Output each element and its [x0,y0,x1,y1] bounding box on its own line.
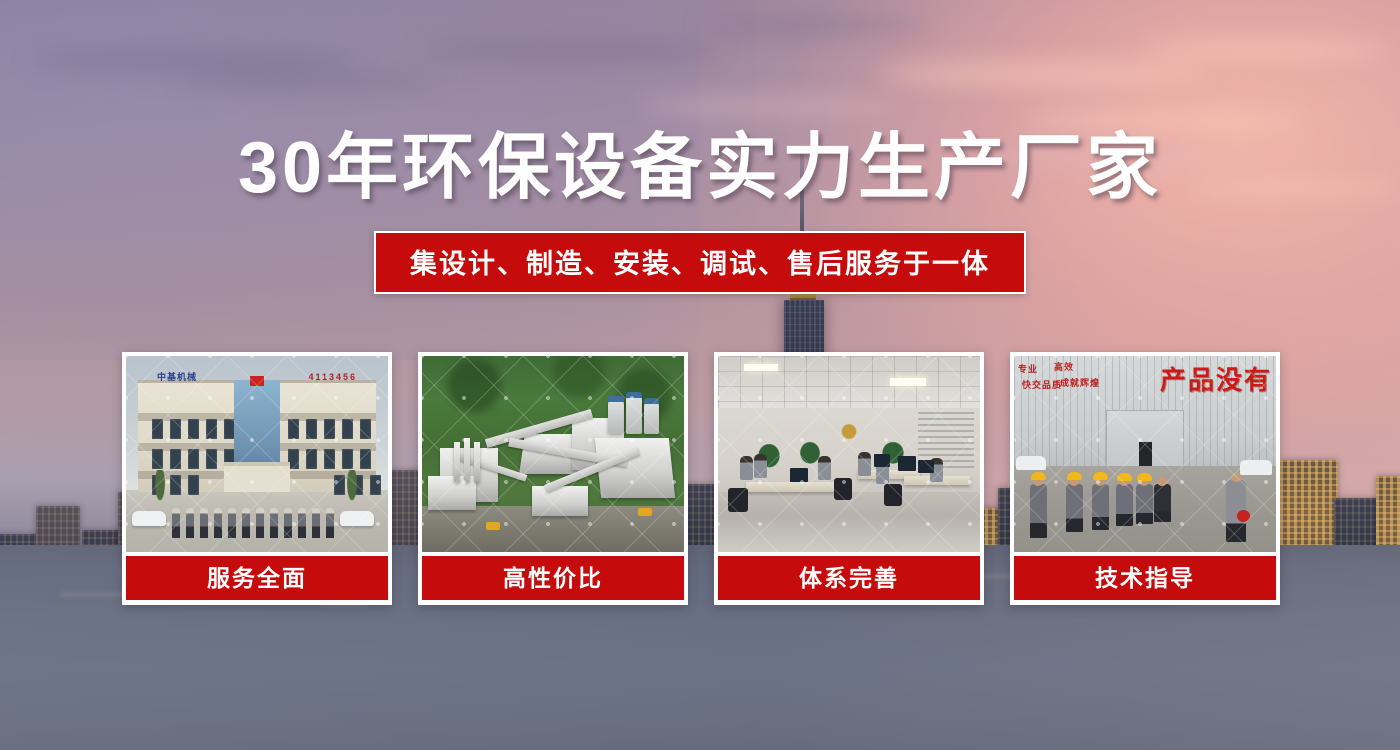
feature-card-list: 中基机械 4113456 服务 [122,352,1280,605]
feature-card[interactable]: 中基机械 4113456 服务 [122,352,392,605]
factory-wall-slogan: 专业 [1018,364,1038,374]
page-title: 30年环保设备实力生产厂家 [0,132,1400,204]
feature-card[interactable]: 高性价比 [418,352,688,605]
card-photo-office-interior [718,356,980,552]
building-signage: 中基机械 4113456 [157,370,357,383]
promo-banner: 30年环保设备实力生产厂家 集设计、制造、安装、调试、售后服务于一体 [0,0,1400,750]
subtitle-banner: 集设计、制造、安装、调试、售后服务于一体 [374,231,1026,294]
wall-decal [829,418,869,448]
building-phone-text: 4113456 [308,372,357,382]
card-photo-headquarters: 中基机械 4113456 [126,356,388,552]
factory-wall-headline: 产品没有 [1160,360,1272,397]
building-sign-text: 中基机械 [157,370,197,383]
card-photo-industrial-plant [422,356,684,552]
factory-wall-slogan: 高效 [1054,362,1074,372]
card-caption: 服务全面 [126,556,388,600]
card-caption: 高性价比 [422,556,684,600]
feature-card[interactable]: 产品没有 专业 高效 快交品质 成就辉煌 [1010,352,1280,605]
factory-wall-slogan: 成就辉煌 [1060,378,1100,388]
card-photo-factory-workers: 产品没有 专业 高效 快交品质 成就辉煌 [1014,356,1276,552]
card-caption: 技术指导 [1014,556,1276,600]
card-caption: 体系完善 [718,556,980,600]
feature-card[interactable]: 体系完善 [714,352,984,605]
factory-wall-slogan: 快交品质 [1022,380,1062,390]
red-helmet-icon [1237,510,1250,522]
subtitle-bar-wrapper: 集设计、制造、安装、调试、售后服务于一体 [0,231,1400,294]
